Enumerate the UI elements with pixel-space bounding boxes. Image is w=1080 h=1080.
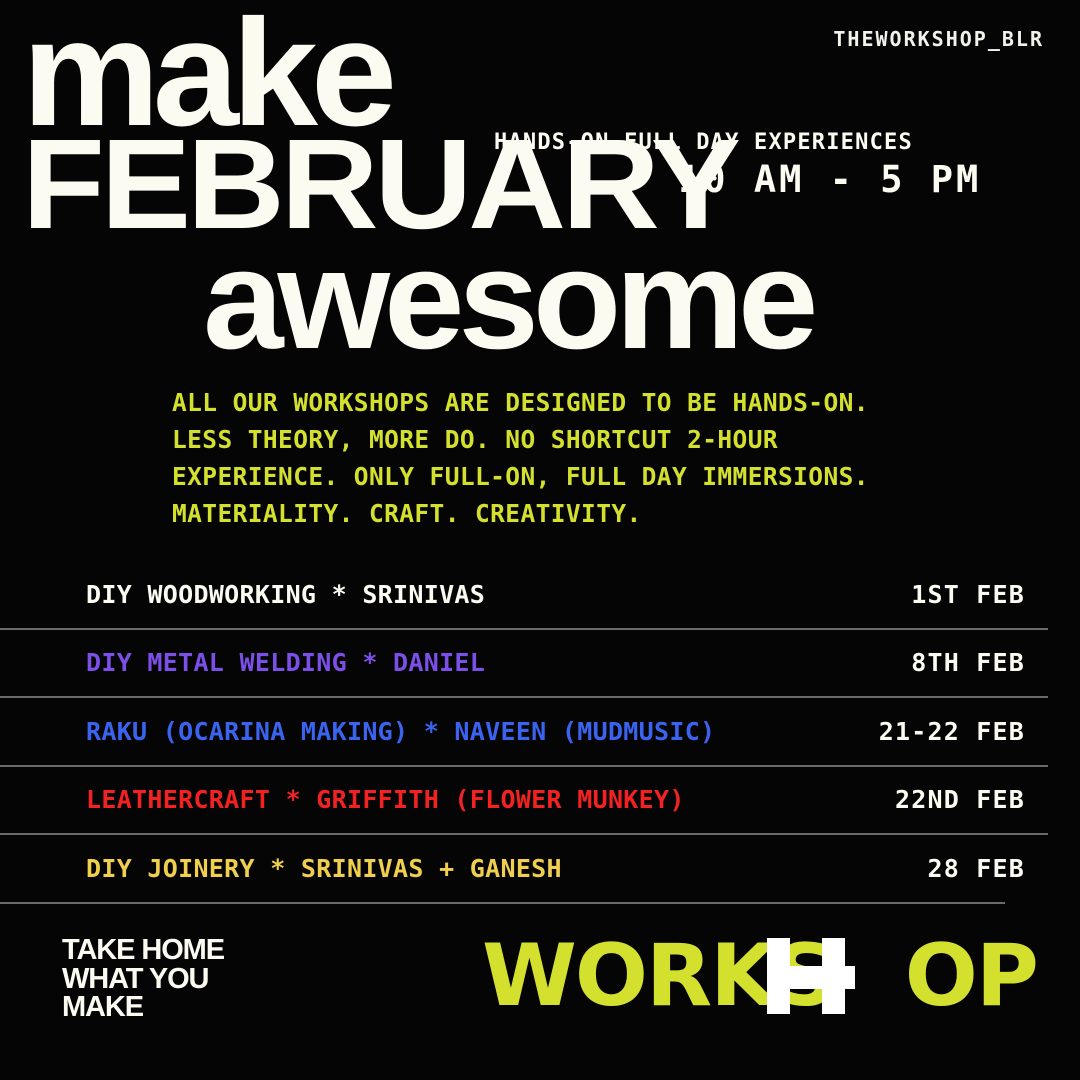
- workshop-date: 21-22 FEB: [879, 717, 1025, 746]
- logo-text: WORKSHOP: [482, 926, 1037, 1026]
- workshop-date: 8TH FEB: [911, 648, 1025, 677]
- table-row[interactable]: LEATHERCRAFT * GRIFFITH (FLOWER MUNKEY) …: [0, 767, 1080, 834]
- logo-wordmark: WORKSHOP: [482, 938, 1037, 1014]
- workshop-date: 22ND FEB: [895, 785, 1025, 814]
- workshop-schedule: DIY WOODWORKING * SRINIVAS 1ST FEB DIY M…: [0, 561, 1080, 904]
- plus-h-icon: [767, 938, 855, 1014]
- logo-text-b: OP: [905, 926, 1037, 1026]
- tagline: TAKE HOME WHAT YOU MAKE: [62, 936, 224, 1022]
- description-paragraph: ALL OUR WORKSHOPS ARE DESIGNED TO BE HAN…: [172, 384, 932, 532]
- workshop-date: 1ST FEB: [911, 580, 1025, 609]
- workshop-title: DIY JOINERY * SRINIVAS + GANESH: [86, 854, 562, 883]
- table-row[interactable]: DIY WOODWORKING * SRINIVAS 1ST FEB: [0, 561, 1080, 628]
- workshop-date: 28 FEB: [927, 854, 1025, 883]
- timing-label: 10 AM - 5 PM: [678, 158, 981, 201]
- table-row[interactable]: DIY JOINERY * SRINIVAS + GANESH 28 FEB: [0, 835, 1080, 902]
- headline-line-awesome: awesome: [203, 245, 812, 356]
- table-row[interactable]: RAKU (OCARINA MAKING) * NAVEEN (MUDMUSIC…: [0, 698, 1080, 765]
- poster-canvas: THEWORKSHOP_BLR make FEBRUARY awesome HA…: [0, 0, 1080, 1080]
- table-row[interactable]: DIY METAL WELDING * DANIEL 8TH FEB: [0, 630, 1080, 697]
- workshop-title: DIY WOODWORKING * SRINIVAS: [86, 580, 485, 609]
- format-label: HANDS-ON FULL DAY EXPERIENCES: [494, 130, 913, 155]
- workshop-title: LEATHERCRAFT * GRIFFITH (FLOWER MUNKEY): [86, 785, 685, 814]
- workshop-logo: WORKSHOP: [482, 938, 1037, 1014]
- workshop-title: RAKU (OCARINA MAKING) * NAVEEN (MUDMUSIC…: [86, 717, 715, 746]
- workshop-title: DIY METAL WELDING * DANIEL: [86, 648, 485, 677]
- row-divider: [0, 902, 1005, 904]
